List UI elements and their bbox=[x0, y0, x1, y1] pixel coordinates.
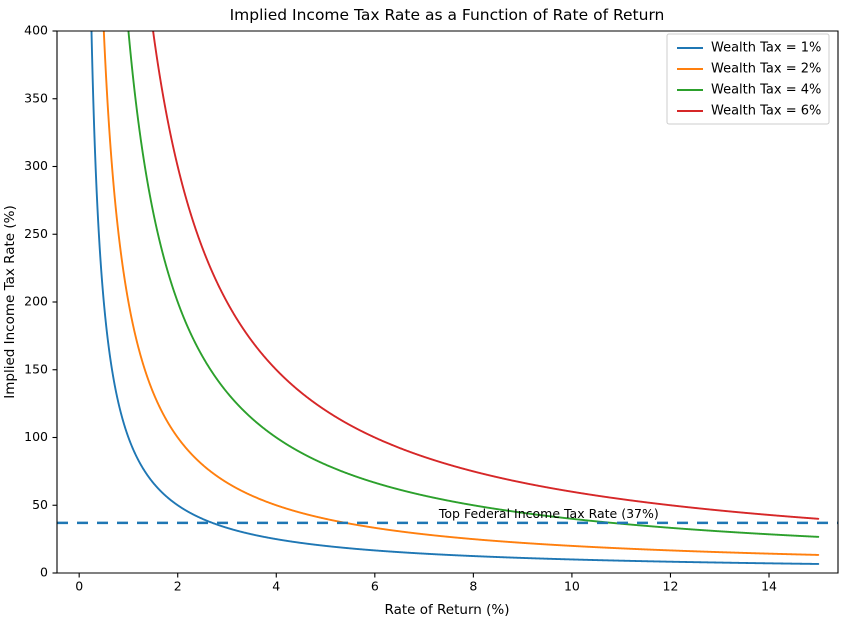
y-axis-ticks: 050100150200250300350400 bbox=[24, 23, 57, 580]
legend-label-4pct[interactable]: Wealth Tax = 4% bbox=[711, 83, 821, 98]
y-tick-label: 50 bbox=[32, 497, 48, 512]
y-tick-label: 100 bbox=[24, 429, 48, 444]
x-tick-label: 0 bbox=[75, 579, 83, 594]
chart-canvas: Implied Income Tax Rate as a Function of… bbox=[0, 0, 850, 624]
legend-label-2pct[interactable]: Wealth Tax = 2% bbox=[711, 62, 821, 77]
page-title: Implied Income Tax Rate as a Function of… bbox=[230, 6, 665, 24]
x-axis-label: Rate of Return (%) bbox=[384, 602, 509, 618]
y-axis-label: Implied Income Tax Rate (%) bbox=[2, 205, 18, 399]
y-tick-label: 350 bbox=[24, 90, 48, 105]
y-tick-label: 250 bbox=[24, 226, 48, 241]
y-tick-label: 200 bbox=[24, 294, 48, 309]
x-tick-label: 4 bbox=[272, 579, 280, 594]
x-tick-label: 14 bbox=[761, 579, 777, 594]
x-tick-label: 2 bbox=[174, 579, 182, 594]
legend-label-6pct[interactable]: Wealth Tax = 6% bbox=[711, 104, 821, 119]
y-tick-label: 150 bbox=[24, 361, 48, 376]
y-tick-label: 300 bbox=[24, 158, 48, 173]
x-tick-label: 8 bbox=[469, 579, 477, 594]
y-tick-label: 0 bbox=[40, 565, 48, 580]
x-tick-label: 6 bbox=[371, 579, 379, 594]
chart-title-group: Implied Income Tax Rate as a Function of… bbox=[230, 6, 665, 24]
reference-line-annotation: Top Federal Income Tax Rate (37%) bbox=[438, 506, 659, 521]
x-axis-ticks: 02468101214 bbox=[75, 573, 777, 594]
y-tick-label: 400 bbox=[24, 23, 48, 38]
x-tick-label: 10 bbox=[564, 579, 580, 594]
chart-figure: Implied Income Tax Rate as a Function of… bbox=[0, 0, 850, 624]
chart-legend[interactable]: Wealth Tax = 1%Wealth Tax = 2%Wealth Tax… bbox=[667, 34, 829, 124]
legend-label-1pct[interactable]: Wealth Tax = 1% bbox=[711, 41, 821, 56]
x-tick-label: 12 bbox=[663, 579, 679, 594]
